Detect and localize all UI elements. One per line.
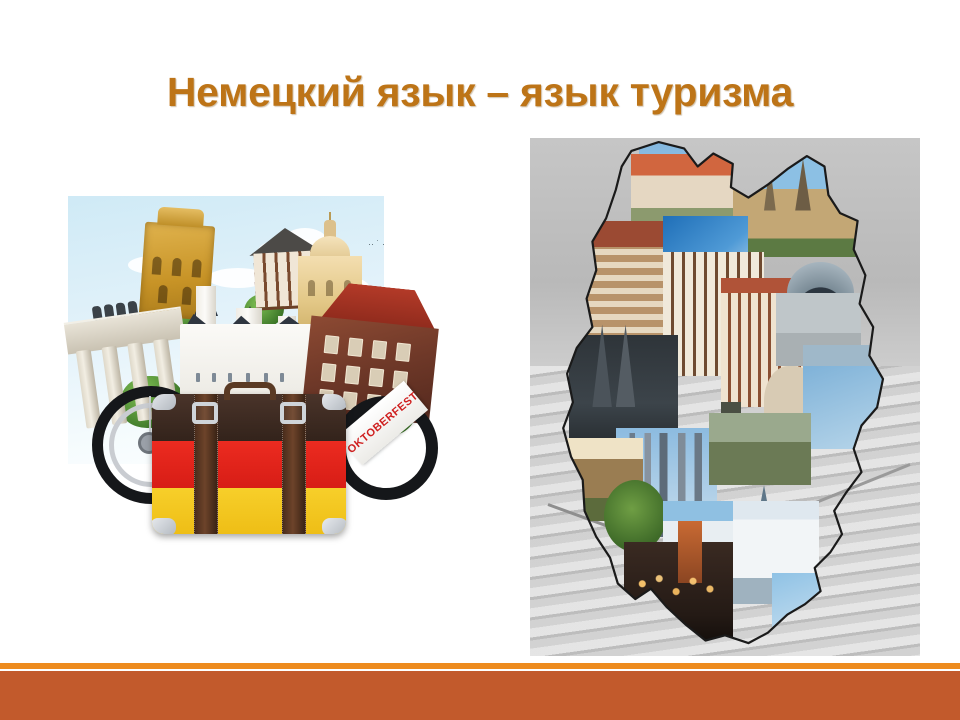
window: [280, 373, 284, 382]
german-flag-suitcase: [152, 394, 346, 534]
window: [368, 368, 384, 387]
page-title: Немецкий язык – язык туризма: [0, 72, 960, 113]
buckle: [192, 402, 218, 424]
corner-protector: [152, 518, 176, 534]
window: [264, 373, 268, 382]
buckle: [280, 402, 306, 424]
window: [228, 373, 232, 382]
corner-protector: [322, 394, 346, 410]
window: [212, 373, 216, 382]
corner-protector: [322, 518, 346, 534]
german-tourism-suitcase-collage: ·· ˙ ·: [68, 196, 440, 541]
flag-stripe-gold: [152, 488, 346, 534]
suitcase-handle: [224, 382, 276, 400]
window: [246, 373, 250, 382]
flag-stripe-red: [152, 441, 346, 488]
accent-bar-dark: [0, 671, 960, 720]
window: [348, 338, 364, 357]
window: [152, 256, 162, 275]
church-top: [157, 207, 204, 228]
tile-wartburg-castle: [709, 413, 810, 486]
window: [196, 373, 200, 382]
window: [345, 365, 361, 384]
window: [395, 343, 411, 362]
column: [76, 349, 102, 428]
slide: Немецкий язык – язык туризма ·· ˙ ·: [0, 0, 960, 720]
window: [321, 363, 337, 382]
window: [371, 340, 387, 359]
window: [324, 335, 340, 354]
germany-map-photo-collage: [530, 138, 920, 656]
corner-protector: [152, 394, 176, 410]
flag-stripe-black: [152, 394, 346, 441]
